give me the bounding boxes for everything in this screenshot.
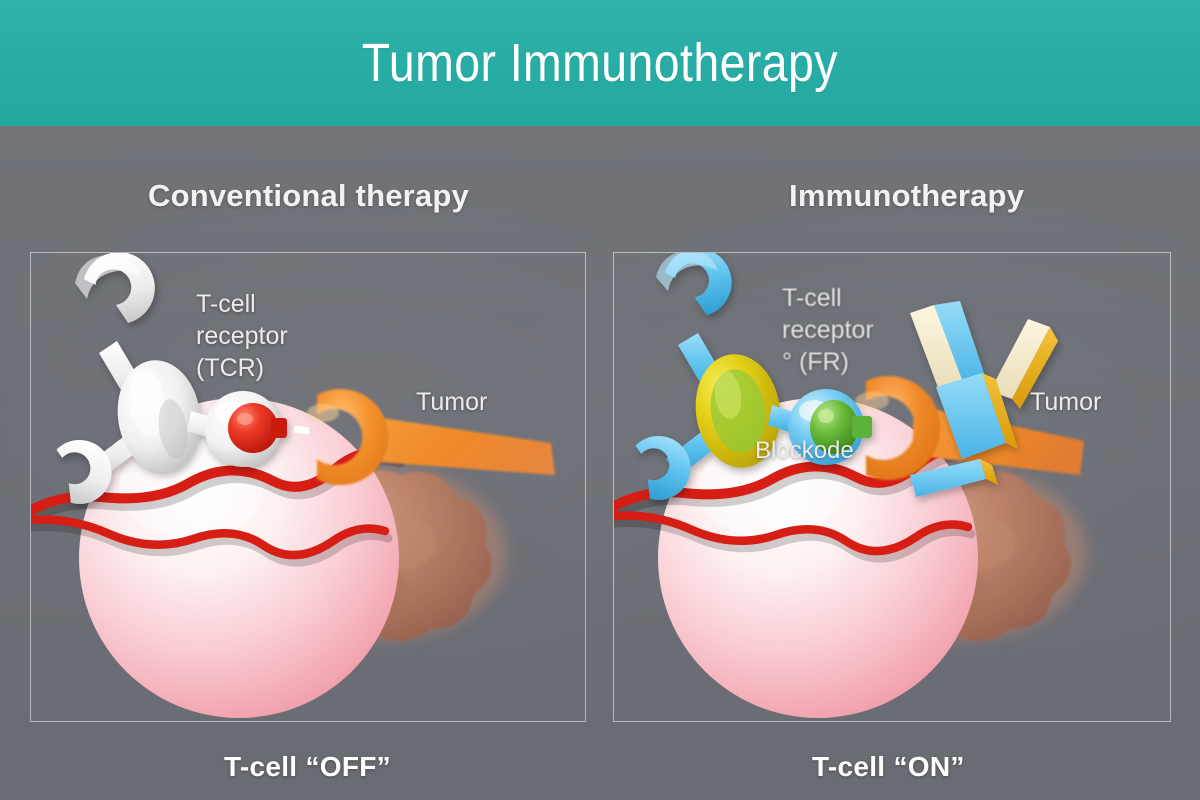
- panel-conventional-therapy: [30, 252, 586, 722]
- conventional-illustration: [31, 253, 586, 722]
- immunotherapy-illustration: [614, 253, 1171, 722]
- page-title: Tumor Immunotherapy: [362, 32, 838, 94]
- heading-immunotherapy: Immunotherapy: [789, 178, 1024, 214]
- label-tumor-right: Tumor: [1030, 386, 1101, 418]
- caption-tcell-off: T-cell “OFF”: [224, 751, 391, 783]
- label-tcell-receptor-left: T-cell receptor (TCR): [196, 288, 288, 384]
- label-tumor-left: Tumor: [416, 386, 487, 418]
- label-blockade: Blockode: [755, 435, 854, 467]
- diagram-root: Tumor Immunotherapy Conventional therapy…: [0, 0, 1200, 800]
- caption-tcell-on: T-cell “ON”: [812, 751, 965, 783]
- label-tcell-receptor-right: T-cell receptor ° (FR): [782, 282, 874, 378]
- heading-conventional-therapy: Conventional therapy: [148, 178, 469, 214]
- header-banner: Tumor Immunotherapy: [0, 0, 1200, 126]
- panel-immunotherapy: [613, 252, 1171, 722]
